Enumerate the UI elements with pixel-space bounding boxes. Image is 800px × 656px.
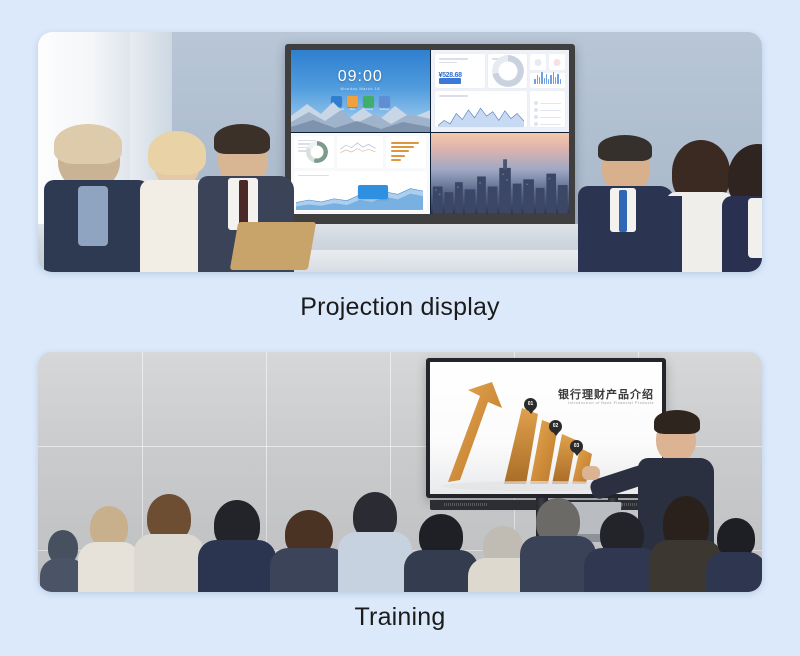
bar-chart xyxy=(534,70,561,84)
audience-member xyxy=(198,500,276,592)
caption-training: Training xyxy=(0,603,800,632)
gauge-chart-icon xyxy=(306,141,328,163)
view-detail-button[interactable] xyxy=(439,78,461,84)
analytics-bars-card[interactable] xyxy=(386,136,426,168)
page-root: 09:00 Monday March 18 Whiteboard Files xyxy=(0,0,800,656)
slide-subtitle: Introduction of Bank Financial Products xyxy=(568,401,654,405)
display-screen[interactable]: 09:00 Monday March 18 Whiteboard Files xyxy=(291,50,569,214)
dashboard-tile-bars[interactable] xyxy=(530,73,565,89)
area-chart xyxy=(438,103,525,127)
analytics-main-area-chart[interactable] xyxy=(294,171,427,212)
interactive-display[interactable]: 09:00 Monday March 18 Whiteboard Files xyxy=(285,44,575,234)
audience-member xyxy=(270,510,348,592)
card-text-lines xyxy=(439,58,481,65)
audience-member xyxy=(134,494,204,592)
analytics-top-row xyxy=(294,136,427,168)
badge-03: 03 xyxy=(570,440,583,453)
line-chart xyxy=(339,138,381,156)
audience-member xyxy=(584,512,660,592)
dashboard-tile-group[interactable] xyxy=(530,54,565,88)
analytics-line-card[interactable] xyxy=(337,136,383,168)
quadrant-city-skyline[interactable] xyxy=(431,133,570,215)
caption-projection-display: Projection display xyxy=(0,293,800,322)
audience-member xyxy=(338,492,412,592)
card-text-lines xyxy=(439,95,524,99)
training-photo: 01 02 03 银行理财产品介绍 Introduction of Bank F… xyxy=(38,352,762,592)
dashboard-card-amount[interactable]: ¥528.68 xyxy=(435,54,485,88)
laptop-on-table xyxy=(230,222,316,270)
mountain-graphic xyxy=(291,90,430,132)
slide-title: 银行理财产品介绍 xyxy=(558,386,654,402)
badge-01: 01 xyxy=(524,398,537,411)
ranking-list xyxy=(534,101,561,127)
dashboard-card-list[interactable] xyxy=(530,91,565,127)
quadrant-bank-dashboard[interactable]: ¥528.68 xyxy=(431,50,570,132)
city-skyline-graphic xyxy=(431,155,570,214)
dashboard-tile[interactable] xyxy=(530,54,546,70)
dashboard-card-donut[interactable] xyxy=(488,54,528,88)
badge-02: 02 xyxy=(549,420,562,433)
audience-member xyxy=(78,506,140,592)
clock-time: 09:00 xyxy=(291,68,430,86)
audience-member xyxy=(706,518,762,592)
speaker-grille-left xyxy=(444,503,488,506)
dashboard-tile[interactable] xyxy=(549,54,565,70)
quadrant-analytics-dashboard[interactable] xyxy=(291,133,430,215)
donut-chart-icon xyxy=(492,55,524,87)
card-text-lines xyxy=(298,175,423,179)
analytics-gauge-card[interactable] xyxy=(294,136,334,168)
quadrant-clock-wallpaper[interactable]: 09:00 Monday March 18 Whiteboard Files xyxy=(291,50,430,132)
horizontal-bar-chart xyxy=(391,141,422,163)
projection-display-photo: 09:00 Monday March 18 Whiteboard Files xyxy=(38,32,762,272)
chart-tooltip xyxy=(358,185,388,199)
person-woman-dark-blazer xyxy=(718,150,762,272)
dashboard-card-trend[interactable] xyxy=(435,91,528,127)
audience-member xyxy=(404,514,478,592)
